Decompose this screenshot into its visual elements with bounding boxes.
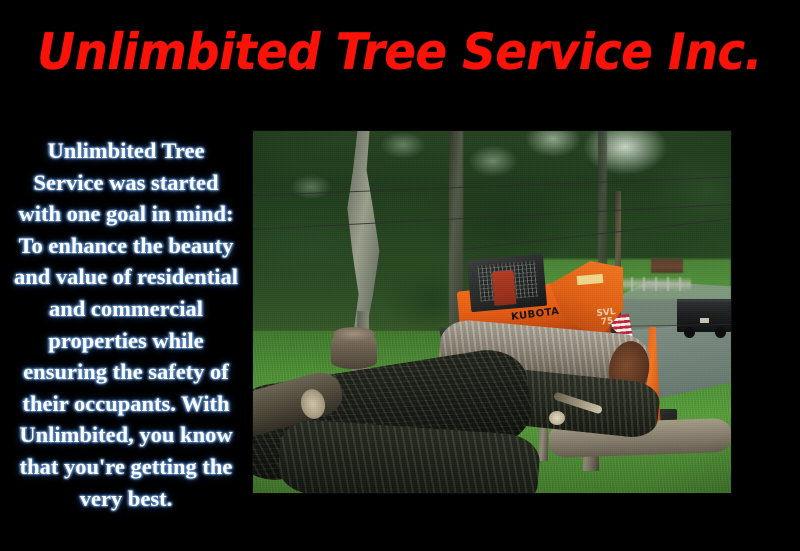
overhead-wire — [463, 219, 729, 250]
tree-stump-top — [333, 327, 375, 341]
dump-truck-wheel — [684, 327, 695, 338]
page-title: Unlimbited Tree Service Inc. — [38, 26, 763, 85]
distant-barn — [651, 259, 683, 273]
overhead-wire — [253, 177, 731, 196]
jobsite-photo: KUBOTA SVL 75 — [253, 131, 731, 493]
intro-text-block: Unlimbited Tree Service was started with… — [14, 135, 238, 514]
site-header: Unlimbited Tree Service Inc. — [0, 0, 800, 110]
loader-model-label: SVL 75 — [596, 308, 617, 328]
loader-operator — [492, 270, 517, 306]
main-content: Unlimbited Tree Service was started with… — [0, 110, 800, 551]
intro-paragraph: Unlimbited Tree Service was started with… — [14, 135, 238, 514]
page-root: Unlimbited Tree Service Inc. Unlimbited … — [0, 0, 800, 551]
photo-frame: KUBOTA SVL 75 — [253, 131, 731, 493]
dump-truck-wheel — [715, 327, 726, 338]
dump-truck-plate — [700, 318, 709, 323]
cut-branch-end — [549, 411, 565, 425]
